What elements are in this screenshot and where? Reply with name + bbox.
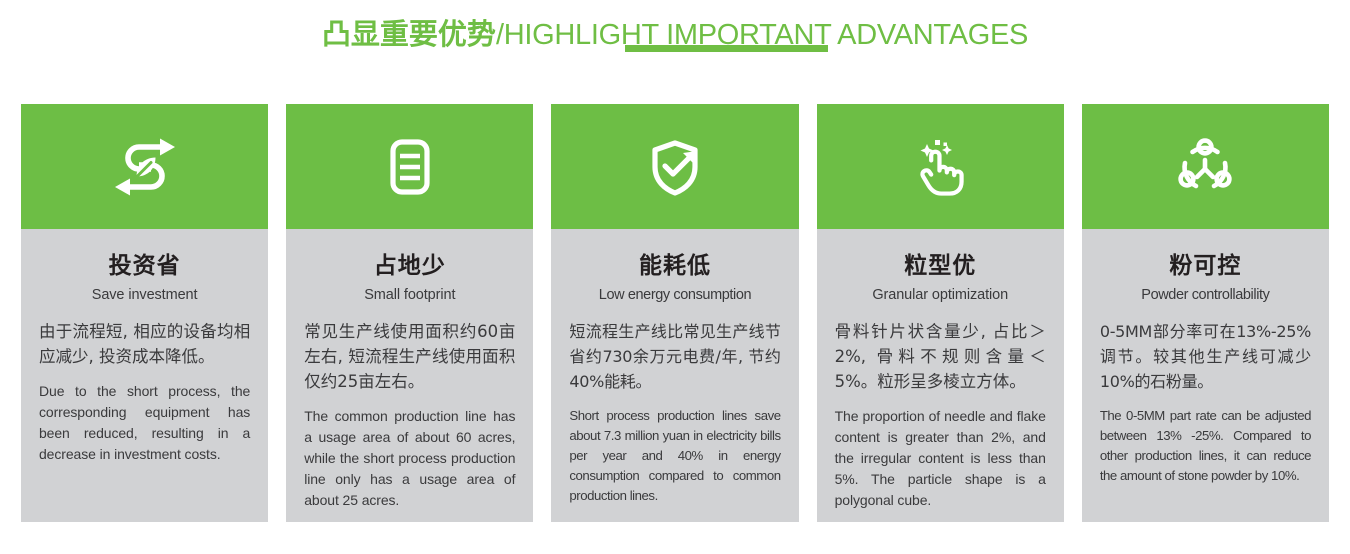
- page-title-separator: /: [496, 19, 504, 51]
- card-icon-band: [1082, 104, 1329, 229]
- card-description-en: The common production line has a usage a…: [304, 406, 515, 511]
- card-title-en: Small footprint: [304, 285, 515, 305]
- card-title-en: Low energy consumption: [569, 285, 780, 305]
- card-body: 粉可控 Powder controllability 0-5MM部分率可在13%…: [1082, 229, 1329, 522]
- card-title-cn: 粉可控: [1100, 253, 1311, 279]
- card-title-en: Granular optimization: [835, 285, 1046, 305]
- advantage-card-save-investment[interactable]: 投资省 Save investment 由于流程短, 相应的设备均相应减少, 投…: [21, 104, 268, 522]
- card-title-cn: 投资省: [39, 253, 250, 279]
- card-title-en: Powder controllability: [1100, 285, 1311, 305]
- card-description-cn: 常见生产线使用面积约60亩左右, 短流程生产线使用面积仅约25亩左右。: [304, 319, 515, 394]
- page-title-cn: 凸显重要优势: [322, 17, 496, 51]
- card-description-cn: 由于流程短, 相应的设备均相应减少, 投资成本降低。: [39, 319, 250, 369]
- card-description-cn: 0-5MM部分率可在13%-25%调节。较其他生产线可减少10%的石粉量。: [1100, 319, 1311, 394]
- network-nodes-icon: [1167, 129, 1243, 205]
- title-underline-bar: [625, 45, 828, 52]
- advantage-card-powder-controllability[interactable]: 粉可控 Powder controllability 0-5MM部分率可在13%…: [1082, 104, 1329, 522]
- card-body: 占地少 Small footprint 常见生产线使用面积约60亩左右, 短流程…: [286, 229, 533, 525]
- card-icon-band: [817, 104, 1064, 229]
- advantage-card-low-energy[interactable]: 能耗低 Low energy consumption 短流程生产线比常见生产线节…: [551, 104, 798, 522]
- recycle-leaf-icon: [107, 129, 183, 205]
- card-title-cn: 能耗低: [569, 253, 780, 279]
- card-description-cn: 骨料针片状含量少, 占比＞2%, 骨料不规则含量＜5%。粒形呈多棱立方体。: [835, 319, 1046, 394]
- advantage-card-small-footprint[interactable]: 占地少 Small footprint 常见生产线使用面积约60亩左右, 短流程…: [286, 104, 533, 522]
- shield-check-arrow-icon: [637, 129, 713, 205]
- card-description-cn: 短流程生产线比常见生产线节省约730余万元电费/年, 节约40%能耗。: [569, 319, 780, 394]
- pointing-hand-sparkle-icon: [902, 129, 978, 205]
- advantage-card-list: 投资省 Save investment 由于流程短, 相应的设备均相应减少, 投…: [21, 104, 1329, 522]
- document-lines-icon: [372, 129, 448, 205]
- card-icon-band: [286, 104, 533, 229]
- card-icon-band: [21, 104, 268, 229]
- card-body: 能耗低 Low energy consumption 短流程生产线比常见生产线节…: [551, 229, 798, 522]
- card-body: 粒型优 Granular optimization 骨料针片状含量少, 占比＞2…: [817, 229, 1064, 525]
- card-icon-band: [551, 104, 798, 229]
- card-description-en: The proportion of needle and flake conte…: [835, 406, 1046, 511]
- advantages-page: 凸显重要优势/HIGHLIGHT IMPORTANT ADVANTAGES: [0, 0, 1350, 554]
- card-title-en: Save investment: [39, 285, 250, 305]
- card-description-en: The 0-5MM part rate can be adjusted betw…: [1100, 406, 1311, 486]
- card-description-en: Due to the short process, the correspond…: [39, 381, 250, 465]
- advantage-card-granular-optimization[interactable]: 粒型优 Granular optimization 骨料针片状含量少, 占比＞2…: [817, 104, 1064, 522]
- card-title-cn: 粒型优: [835, 253, 1046, 279]
- card-body: 投资省 Save investment 由于流程短, 相应的设备均相应减少, 投…: [21, 229, 268, 522]
- card-description-en: Short process production lines save abou…: [569, 406, 780, 506]
- card-title-cn: 占地少: [304, 253, 515, 279]
